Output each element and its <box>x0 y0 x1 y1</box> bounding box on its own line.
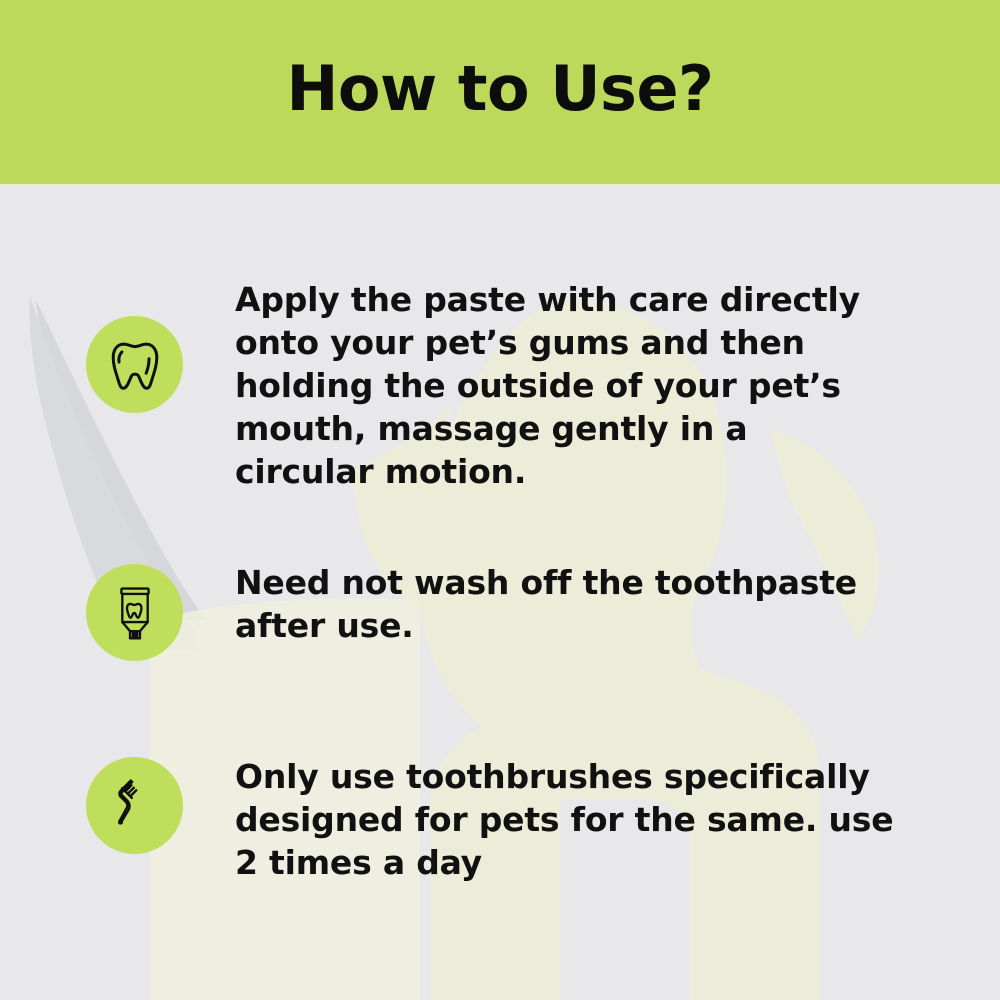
steps-list: Apply the paste with care directly onto … <box>0 188 1000 1000</box>
toothbrush-icon-badge <box>86 757 183 854</box>
step-item-2: Need not wash off the toothpaste after u… <box>86 561 895 661</box>
how-to-use-poster: How to Use? Apply the paste with care di… <box>0 0 1000 1000</box>
step-text-3: Only use toothbrushes specifically desig… <box>235 755 895 884</box>
page-title: How to Use? <box>287 58 714 126</box>
step-text-2: Need not wash off the toothpaste after u… <box>235 561 895 647</box>
toothpaste-tube-icon <box>106 584 164 642</box>
tooth-icon-badge <box>86 316 183 413</box>
tooth-icon <box>104 334 166 396</box>
header-band: How to Use? <box>0 0 1000 184</box>
toothbrush-icon <box>103 774 167 838</box>
step-text-1: Apply the paste with care directly onto … <box>235 278 895 493</box>
header-bottom-edge <box>0 184 1000 188</box>
step-item-3: Only use toothbrushes specifically desig… <box>86 755 895 884</box>
toothpaste-tube-icon-badge <box>86 564 183 661</box>
step-item-1: Apply the paste with care directly onto … <box>86 278 895 493</box>
